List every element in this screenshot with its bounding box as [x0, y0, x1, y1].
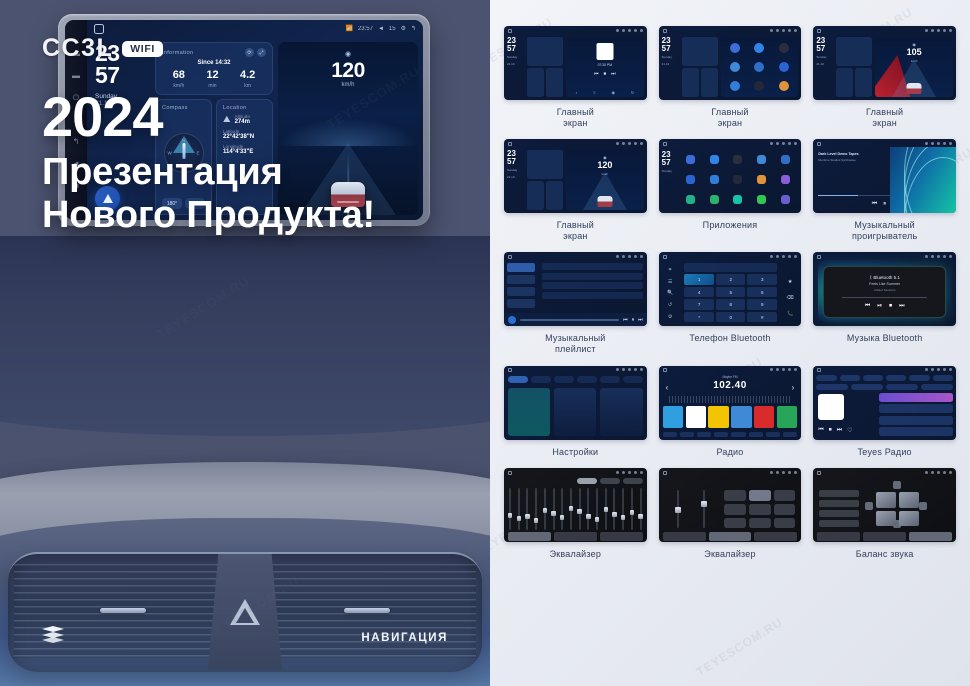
prev-icon: ⏮ — [594, 71, 599, 77]
tab[interactable] — [909, 375, 929, 381]
gear-icon[interactable] — [788, 368, 791, 371]
station-presets[interactable] — [663, 406, 798, 428]
right-arrow-icon[interactable] — [919, 502, 927, 510]
fader[interactable] — [677, 490, 679, 528]
app-icon[interactable] — [779, 43, 789, 53]
dial-key[interactable]: 2 — [716, 274, 746, 285]
tab-balance[interactable] — [554, 532, 597, 541]
toolbar-button[interactable] — [783, 432, 797, 437]
eq-slider[interactable] — [535, 488, 537, 530]
gear-icon[interactable] — [788, 142, 791, 145]
eq-slider[interactable] — [587, 488, 589, 530]
screen-thumbnail[interactable]: 2357Sunday21.10◉105km/h — [813, 26, 956, 100]
app-icon[interactable] — [733, 175, 742, 184]
left-arrow-icon[interactable] — [865, 502, 873, 510]
preset-button[interactable] — [774, 518, 796, 529]
stop-icon[interactable]: ⏹ — [829, 427, 832, 434]
thumbnail-caption: Teyes Радио — [858, 447, 912, 458]
stop-icon[interactable]: ⏹ — [889, 303, 892, 310]
home-screen-body: 2357Sunday21.10 — [659, 34, 802, 100]
settings-cards[interactable] — [508, 388, 643, 436]
tab-display[interactable] — [554, 376, 574, 383]
location-card[interactable] — [701, 68, 718, 97]
tab[interactable] — [886, 375, 906, 381]
phone-actions[interactable]: ★⌫📞 — [781, 274, 800, 322]
app-icon[interactable] — [781, 195, 790, 204]
speed-widget[interactable]: ◉105km/h — [875, 37, 953, 97]
preset-button[interactable] — [724, 504, 746, 515]
gallery-item[interactable]: 2357SundayПриложения — [659, 139, 802, 241]
app-icon[interactable] — [730, 81, 740, 91]
preset-button[interactable] — [749, 518, 771, 529]
tab[interactable] — [840, 375, 860, 381]
location-card[interactable] — [546, 181, 563, 210]
list-item[interactable] — [879, 393, 953, 402]
information-actions: ⟳ ⤢ — [245, 48, 266, 57]
volume-icon — [782, 29, 785, 32]
dialpad-icon[interactable]: ⌗ — [669, 267, 672, 273]
preset-button[interactable] — [623, 478, 643, 484]
search-icon[interactable]: 🔍 — [667, 290, 673, 296]
list-item[interactable] — [879, 416, 953, 425]
gallery-item[interactable]: 2357Sunday21.10◉120km/hГлавныйэкран — [504, 139, 647, 241]
dial-key[interactable]: 1 — [684, 274, 714, 285]
sidebar-item-tracks[interactable] — [507, 263, 535, 272]
back-icon[interactable] — [794, 29, 797, 32]
preset-tile[interactable] — [754, 406, 774, 428]
expand-icon[interactable]: ⤢ — [257, 48, 266, 57]
wifi-icon — [770, 142, 773, 145]
back-icon[interactable] — [794, 255, 797, 258]
toolbar-button[interactable] — [714, 432, 728, 437]
preset-tile[interactable] — [731, 406, 751, 428]
back-icon[interactable] — [949, 142, 952, 145]
tab-wifi[interactable] — [508, 376, 528, 383]
car-3d-model — [907, 83, 922, 94]
sidebar-item-albums[interactable] — [507, 287, 535, 296]
status-volume: 15 — [389, 26, 396, 32]
screen-thumbnail[interactable] — [813, 468, 956, 542]
status-bar — [659, 139, 802, 147]
eq-slider[interactable] — [570, 488, 572, 530]
back-icon[interactable] — [949, 368, 952, 371]
media-controls[interactable]: ⏮⏹⏭♡ — [818, 427, 852, 434]
back-icon[interactable]: ↰ — [411, 25, 416, 32]
gear-icon[interactable]: ⚙ — [401, 25, 406, 32]
sidebar-item-folders[interactable] — [507, 299, 535, 308]
layers-icon — [42, 626, 64, 644]
card-wifi[interactable] — [508, 388, 550, 436]
speed-unit: km/h — [875, 59, 953, 63]
eq-slider[interactable] — [596, 488, 598, 530]
gear-icon[interactable] — [788, 29, 791, 32]
gear-icon[interactable] — [943, 255, 946, 258]
compass-card[interactable] — [527, 181, 544, 210]
tab-fader[interactable] — [600, 532, 643, 541]
volume-icon — [782, 142, 785, 145]
balance-pad[interactable] — [876, 492, 919, 526]
screen-thumbnail[interactable]: 2357Sunday — [659, 139, 802, 213]
location-card[interactable] — [855, 68, 872, 97]
next-icon[interactable]: ⏭ — [899, 303, 904, 310]
screen-thumbnail[interactable]: Maybe FM‹102.40› — [659, 366, 802, 440]
app-icon[interactable] — [730, 62, 740, 72]
gear-icon[interactable] — [943, 471, 946, 474]
eq-slider[interactable] — [553, 488, 555, 530]
gallery-item[interactable]: 2357Sunday21.10◉105km/hГлавныйэкран — [813, 26, 956, 128]
gallery-item[interactable]: 2357Sunday21.1007:30 PM⏮⏹⏭♪≡◉↻Главныйэкр… — [504, 26, 647, 128]
app-icon[interactable] — [733, 195, 742, 204]
gear-icon[interactable] — [634, 368, 637, 371]
app-icon[interactable] — [686, 155, 695, 164]
gear-icon[interactable] — [634, 142, 637, 145]
screen-thumbnail[interactable]: ᛒ Bluetooth 5.1Feels Like SummerChilled … — [813, 252, 956, 326]
screen-thumbnail[interactable]: 2357Sunday21.10◉120km/h — [504, 139, 647, 213]
tab-apps[interactable] — [577, 376, 597, 383]
back-icon[interactable] — [794, 368, 797, 371]
stat-time: 12 min — [206, 70, 218, 89]
screen-thumbnail[interactable] — [504, 468, 647, 542]
volume-icon — [628, 142, 631, 145]
preset-button[interactable] — [774, 490, 796, 501]
thumbnail-caption: Эквалайзер — [550, 549, 601, 560]
eq-tabs[interactable] — [663, 532, 798, 541]
gear-icon[interactable] — [943, 142, 946, 145]
preset-button[interactable] — [600, 478, 620, 484]
gear-icon[interactable] — [943, 368, 946, 371]
app-icon[interactable] — [781, 155, 790, 164]
screen-thumbnail[interactable]: ⌗☰🔍↺⚙123456789*0#★⌫📞 — [659, 252, 802, 326]
dial-pad[interactable]: 123456789*0# — [684, 274, 777, 322]
eq-slider[interactable] — [640, 488, 642, 530]
tab-balance[interactable] — [863, 532, 906, 541]
screen-thumbnail[interactable] — [504, 366, 647, 440]
app-drawer[interactable] — [678, 148, 799, 210]
dial-key[interactable]: 3 — [747, 274, 777, 285]
gallery-item[interactable]: ⌗☰🔍↺⚙123456789*0#★⌫📞Телефон Bluetooth — [659, 252, 802, 354]
eq-slider[interactable] — [526, 488, 528, 530]
tab[interactable] — [933, 375, 953, 381]
card-carplay[interactable] — [554, 388, 596, 436]
backspace-icon[interactable]: ⌫ — [787, 295, 794, 301]
app-icon[interactable] — [754, 62, 764, 72]
compass-card[interactable] — [836, 68, 853, 97]
product-logo: CC3L WIFI — [42, 34, 163, 63]
dial-key[interactable]: 6 — [747, 287, 777, 298]
dial-key[interactable]: 5 — [716, 287, 746, 298]
tab-storage[interactable] — [600, 376, 620, 383]
tab-eq[interactable] — [508, 532, 551, 541]
fader[interactable] — [703, 490, 705, 528]
option-row[interactable] — [819, 500, 859, 507]
compass-card[interactable] — [527, 68, 544, 97]
preset-grid[interactable] — [724, 490, 795, 528]
eq-slider[interactable] — [613, 488, 615, 530]
back-icon[interactable] — [640, 471, 643, 474]
volume-icon — [628, 368, 631, 371]
contacts-icon[interactable]: ☰ — [668, 279, 672, 285]
preset-button[interactable] — [749, 490, 771, 501]
eq-slider[interactable] — [605, 488, 607, 530]
speaker-quadrant[interactable] — [876, 511, 896, 527]
tab-eq[interactable] — [663, 532, 706, 541]
music-widget[interactable]: 07:30 PM⏮⏹⏭♪≡◉↻ — [566, 37, 644, 97]
app-icon[interactable] — [779, 62, 789, 72]
app-icon[interactable] — [686, 175, 695, 184]
balance-options[interactable] — [819, 490, 859, 527]
settings-icon[interactable]: ⚙ — [668, 314, 672, 320]
menu-button-icon[interactable]: ▬ — [71, 71, 81, 81]
radio-band: Maybe FM — [659, 375, 802, 379]
dial-key[interactable]: * — [684, 312, 714, 323]
prev-icon: ⏮ — [623, 317, 628, 323]
gallery-item[interactable]: Dark Level Demo TapesRuntime Studios Syn… — [813, 139, 956, 241]
back-icon[interactable] — [794, 142, 797, 145]
volume-icon — [628, 255, 631, 258]
dial-key[interactable]: # — [747, 312, 777, 323]
gallery-item[interactable]: ᛒ Bluetooth 5.1Feels Like SummerChilled … — [813, 252, 956, 354]
gear-icon[interactable] — [634, 471, 637, 474]
app-icon[interactable] — [710, 195, 719, 204]
screen-thumbnail[interactable]: ⏮⏸⏭ — [504, 252, 647, 326]
preset-button[interactable] — [774, 504, 796, 515]
dial-key[interactable]: 7 — [684, 299, 714, 310]
eq-slider[interactable] — [509, 488, 511, 530]
toolbar-button[interactable] — [697, 432, 711, 437]
compass-card[interactable] — [682, 68, 699, 97]
media-controls[interactable]: ⏮⏯⏹⏭ — [865, 303, 905, 310]
gear-icon[interactable] — [943, 29, 946, 32]
eq-slider[interactable] — [622, 488, 624, 530]
toolbar-button[interactable] — [749, 432, 763, 437]
tab[interactable] — [816, 375, 836, 381]
preset-button[interactable] — [749, 504, 771, 515]
app-icon[interactable] — [733, 155, 742, 164]
history-icon[interactable]: ↺ — [668, 302, 672, 308]
location-card[interactable] — [546, 68, 563, 97]
back-icon[interactable] — [794, 471, 797, 474]
status-bar — [504, 139, 647, 147]
subtab[interactable] — [851, 384, 883, 390]
information-card[interactable] — [527, 150, 563, 179]
eq-tabs[interactable] — [817, 532, 952, 541]
preset-tile[interactable] — [663, 406, 683, 428]
app-shortcuts-widget[interactable] — [721, 37, 799, 97]
tab-sound[interactable] — [531, 376, 551, 383]
toolbar-button[interactable] — [680, 432, 694, 437]
speaker-quadrant[interactable] — [899, 511, 919, 527]
next-station-icon[interactable]: › — [792, 383, 795, 392]
tab-fader[interactable] — [754, 532, 797, 541]
thumbnail-caption: Главныйэкран — [557, 220, 594, 241]
eq-presets[interactable] — [508, 477, 643, 485]
gear-icon[interactable] — [634, 29, 637, 32]
settings-tabs[interactable] — [508, 376, 643, 383]
call-icon[interactable]: 📞 — [787, 311, 793, 317]
screen-thumbnail[interactable]: 2357Sunday21.10 — [659, 26, 802, 100]
radio-toolbar[interactable] — [663, 431, 798, 438]
list-item — [542, 263, 642, 270]
gallery-item[interactable]: Настройки — [504, 366, 647, 458]
card-more[interactable] — [600, 388, 642, 436]
hazard-light-button[interactable] — [208, 554, 282, 670]
favorite-icon[interactable]: ★ — [788, 279, 792, 285]
dial-key[interactable]: 4 — [684, 287, 714, 298]
speaker-quadrant[interactable] — [876, 492, 896, 508]
information-card[interactable] — [527, 37, 563, 66]
toolbar-button[interactable] — [766, 432, 780, 437]
dial-key[interactable]: 8 — [716, 299, 746, 310]
app-icon[interactable] — [757, 155, 766, 164]
preset-button[interactable] — [724, 490, 746, 501]
vent-knob-left[interactable] — [100, 608, 146, 613]
eq-slider[interactable] — [518, 488, 520, 530]
refresh-icon[interactable]: ⟳ — [245, 48, 254, 57]
preset-button[interactable] — [724, 518, 746, 529]
visualizer — [890, 147, 956, 213]
prev-icon[interactable]: ⏮ — [872, 201, 877, 208]
screen-thumbnail[interactable]: ⏮⏹⏭♡ — [813, 366, 956, 440]
tab-system[interactable] — [623, 376, 643, 383]
next-icon[interactable]: ⏭ — [837, 427, 842, 434]
eq-slider[interactable] — [579, 488, 581, 530]
clock-dot — [931, 368, 934, 371]
information-card[interactable] — [836, 37, 872, 66]
front-arrow-icon[interactable] — [893, 481, 901, 489]
toolbar-button[interactable] — [731, 432, 745, 437]
clock-date: 21.10 — [507, 175, 524, 179]
fader-sliders[interactable] — [666, 490, 717, 528]
app-icon[interactable] — [730, 43, 740, 53]
gallery-item[interactable]: Эквалайзер — [659, 468, 802, 560]
tab-balance[interactable] — [709, 532, 752, 541]
lower-widgets-row — [527, 68, 563, 97]
option-row[interactable] — [819, 510, 859, 517]
favorite-icon[interactable]: ♡ — [847, 427, 852, 434]
teyes-radio-tabs[interactable] — [816, 375, 953, 381]
information-title: Information — [162, 50, 193, 56]
clock-widget: 2357Sunday21.10 — [816, 37, 833, 97]
app-icon[interactable] — [757, 195, 766, 204]
headline-year: 2024 — [42, 88, 375, 145]
app-icon[interactable] — [754, 43, 764, 53]
gallery-item[interactable]: Эквалайзер — [504, 468, 647, 560]
app-icon[interactable] — [710, 155, 719, 164]
gallery-item[interactable]: Maybe FM‹102.40›Радио — [659, 366, 802, 458]
track-list[interactable] — [538, 260, 646, 313]
eq-band-sliders[interactable] — [509, 488, 642, 530]
list-item[interactable] — [879, 427, 953, 436]
dial-key[interactable]: 9 — [747, 299, 777, 310]
back-icon[interactable] — [949, 29, 952, 32]
prev-icon[interactable]: ⏮ — [865, 303, 870, 310]
back-icon[interactable] — [640, 368, 643, 371]
speaker-quadrant[interactable] — [899, 492, 919, 508]
list-item[interactable] — [879, 404, 953, 413]
eq-slider[interactable] — [544, 488, 546, 530]
preset-tile[interactable] — [777, 406, 797, 428]
thumbnail-caption: Главныйэкран — [866, 107, 903, 128]
back-icon[interactable] — [949, 471, 952, 474]
eq-slider[interactable] — [631, 488, 633, 530]
status-bar — [504, 252, 647, 260]
bluetooth-version: ᛒ Bluetooth 5.1 — [869, 275, 899, 280]
speed-unit: km/h — [566, 172, 644, 176]
eq-slider[interactable] — [561, 488, 563, 530]
gear-icon[interactable] — [634, 255, 637, 258]
status-bar — [813, 26, 956, 34]
preset-tile[interactable] — [708, 406, 728, 428]
preset-tile[interactable] — [686, 406, 706, 428]
option-row[interactable] — [819, 490, 859, 497]
screen-thumbnail[interactable]: 2357Sunday21.1007:30 PM⏮⏹⏭♪≡◉↻ — [504, 26, 647, 100]
clock-date: 21.10 — [816, 62, 833, 66]
mini-player[interactable]: ⏮⏸⏭ — [504, 313, 647, 326]
pause-icon[interactable]: ⏸ — [883, 201, 886, 208]
app-icon[interactable] — [710, 175, 719, 184]
gear-icon[interactable] — [788, 255, 791, 258]
frequency-scale[interactable] — [669, 396, 792, 403]
progress-bar[interactable] — [842, 297, 926, 298]
vent-knob-right[interactable] — [344, 608, 390, 613]
stat-distance: 4.2 km — [240, 70, 255, 89]
tab-fader[interactable] — [909, 532, 952, 541]
gallery-item[interactable]: ⏮⏹⏭♡Teyes Радио — [813, 366, 956, 458]
app-icon[interactable] — [779, 81, 789, 91]
option-row[interactable] — [819, 520, 859, 527]
station-list[interactable] — [879, 393, 953, 436]
clock-dot — [622, 29, 625, 32]
bluetooth-player-card[interactable]: ᛒ Bluetooth 5.1Feels Like SummerChilled … — [823, 266, 946, 318]
subtab[interactable] — [921, 384, 953, 390]
back-icon[interactable] — [640, 29, 643, 32]
home-icon[interactable] — [94, 24, 104, 34]
tab-eq[interactable] — [817, 532, 860, 541]
volume-icon — [782, 255, 785, 258]
teyes-radio-subtabs[interactable] — [816, 384, 953, 390]
subtab[interactable] — [886, 384, 918, 390]
information-card[interactable] — [682, 37, 718, 66]
dial-key[interactable]: 0 — [716, 312, 746, 323]
sidebar-item-artists[interactable] — [507, 275, 535, 284]
eq-tabs[interactable] — [508, 532, 643, 541]
back-icon[interactable] — [949, 255, 952, 258]
information-since: Since 14:32 — [162, 60, 266, 66]
screen-thumbnail[interactable]: Dark Level Demo TapesRuntime Studios Syn… — [813, 139, 956, 213]
information-header: Information ⟳ ⤢ — [162, 48, 266, 57]
screen-thumbnail[interactable] — [659, 468, 802, 542]
gallery-item[interactable]: ⏮⏸⏭Музыкальныйплейлист — [504, 252, 647, 354]
app-icon[interactable] — [686, 195, 695, 204]
stat-speed-value: 68 — [173, 70, 185, 81]
speed-widget[interactable]: ◉120km/h — [566, 150, 644, 210]
toolbar-button[interactable] — [663, 432, 677, 437]
gallery-item[interactable]: Баланс звука — [813, 468, 956, 560]
app-icon[interactable] — [781, 175, 790, 184]
gallery-item[interactable]: 2357Sunday21.10Главныйэкран — [659, 26, 802, 128]
preset-button[interactable] — [577, 478, 597, 484]
gear-icon[interactable] — [788, 471, 791, 474]
phone-sidebar[interactable]: ⌗☰🔍↺⚙ — [659, 260, 682, 326]
back-icon[interactable] — [640, 142, 643, 145]
prev-icon[interactable]: ⏮ — [818, 427, 823, 434]
app-icon[interactable] — [754, 81, 764, 91]
play-pause-icon[interactable]: ⏯ — [877, 303, 882, 310]
app-icon[interactable] — [757, 175, 766, 184]
tab[interactable] — [863, 375, 883, 381]
back-icon[interactable] — [640, 255, 643, 258]
subtab[interactable] — [816, 384, 848, 390]
